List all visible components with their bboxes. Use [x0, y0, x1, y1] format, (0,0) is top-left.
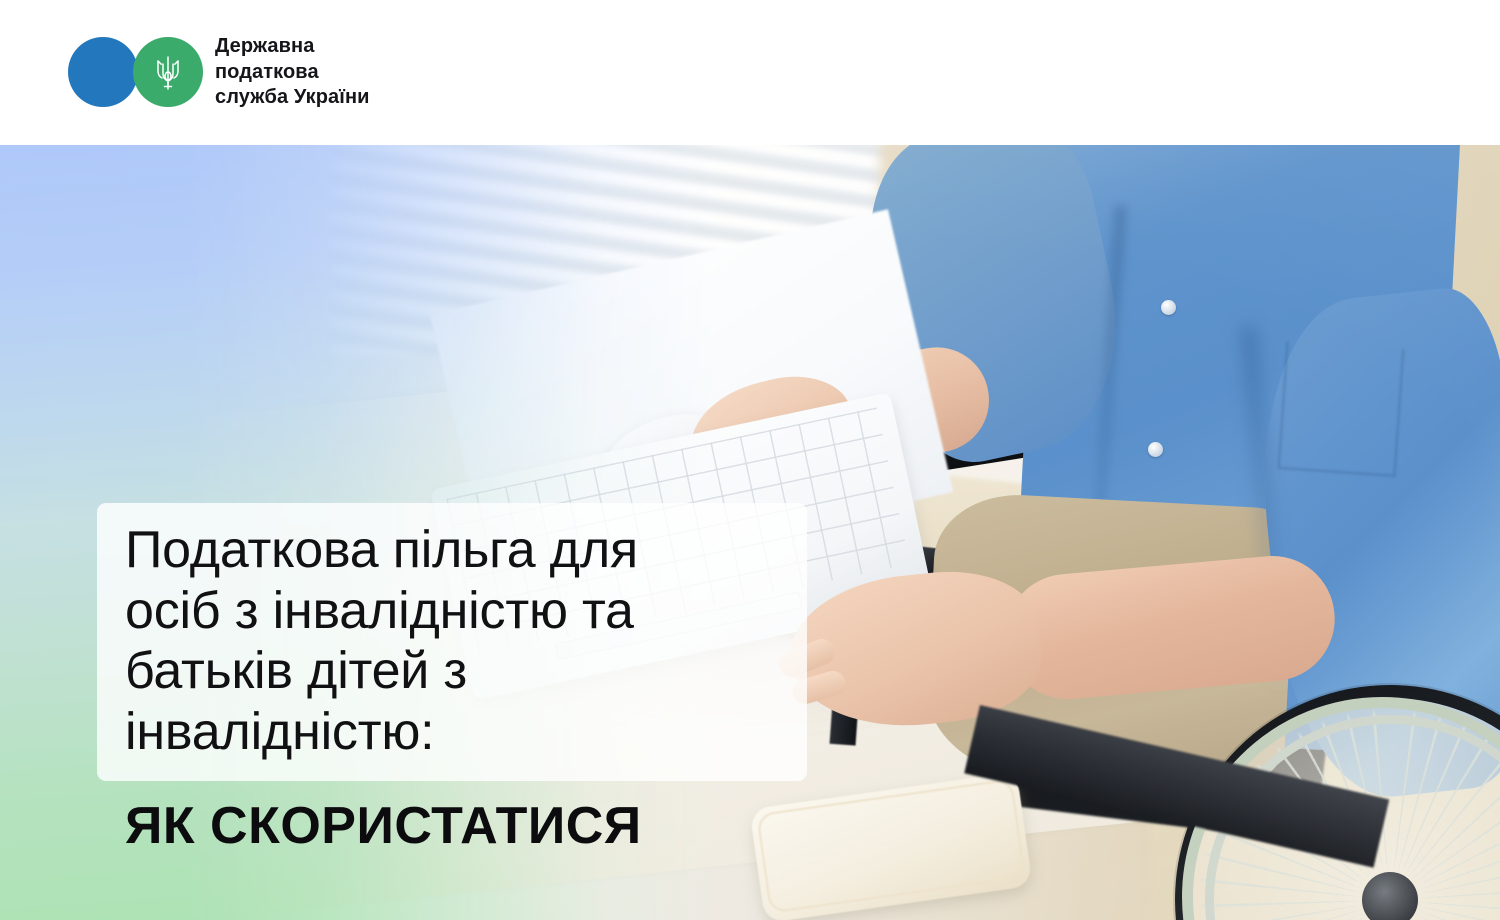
logo-marks [68, 37, 203, 107]
blue-circle-icon [68, 37, 138, 107]
organization-logo[interactable]: Державна податкова служба України [68, 34, 370, 110]
page-subtitle: ЯК СКОРИСТАТИСЯ [125, 796, 642, 856]
ukraine-trident-emblem-icon [153, 52, 183, 92]
poster-canvas: Державна податкова служба України [0, 0, 1500, 920]
green-circle-icon [133, 37, 203, 107]
page-header: Державна податкова служба України [0, 0, 1500, 145]
organization-name: Державна податкова служба України [215, 34, 370, 110]
poster-body: Податкова пільга для осіб з інвалідністю… [0, 145, 1500, 920]
page-title: Податкова пільга для осіб з інвалідністю… [125, 520, 638, 762]
title-overlay-box: Податкова пільга для осіб з інвалідністю… [97, 503, 807, 781]
